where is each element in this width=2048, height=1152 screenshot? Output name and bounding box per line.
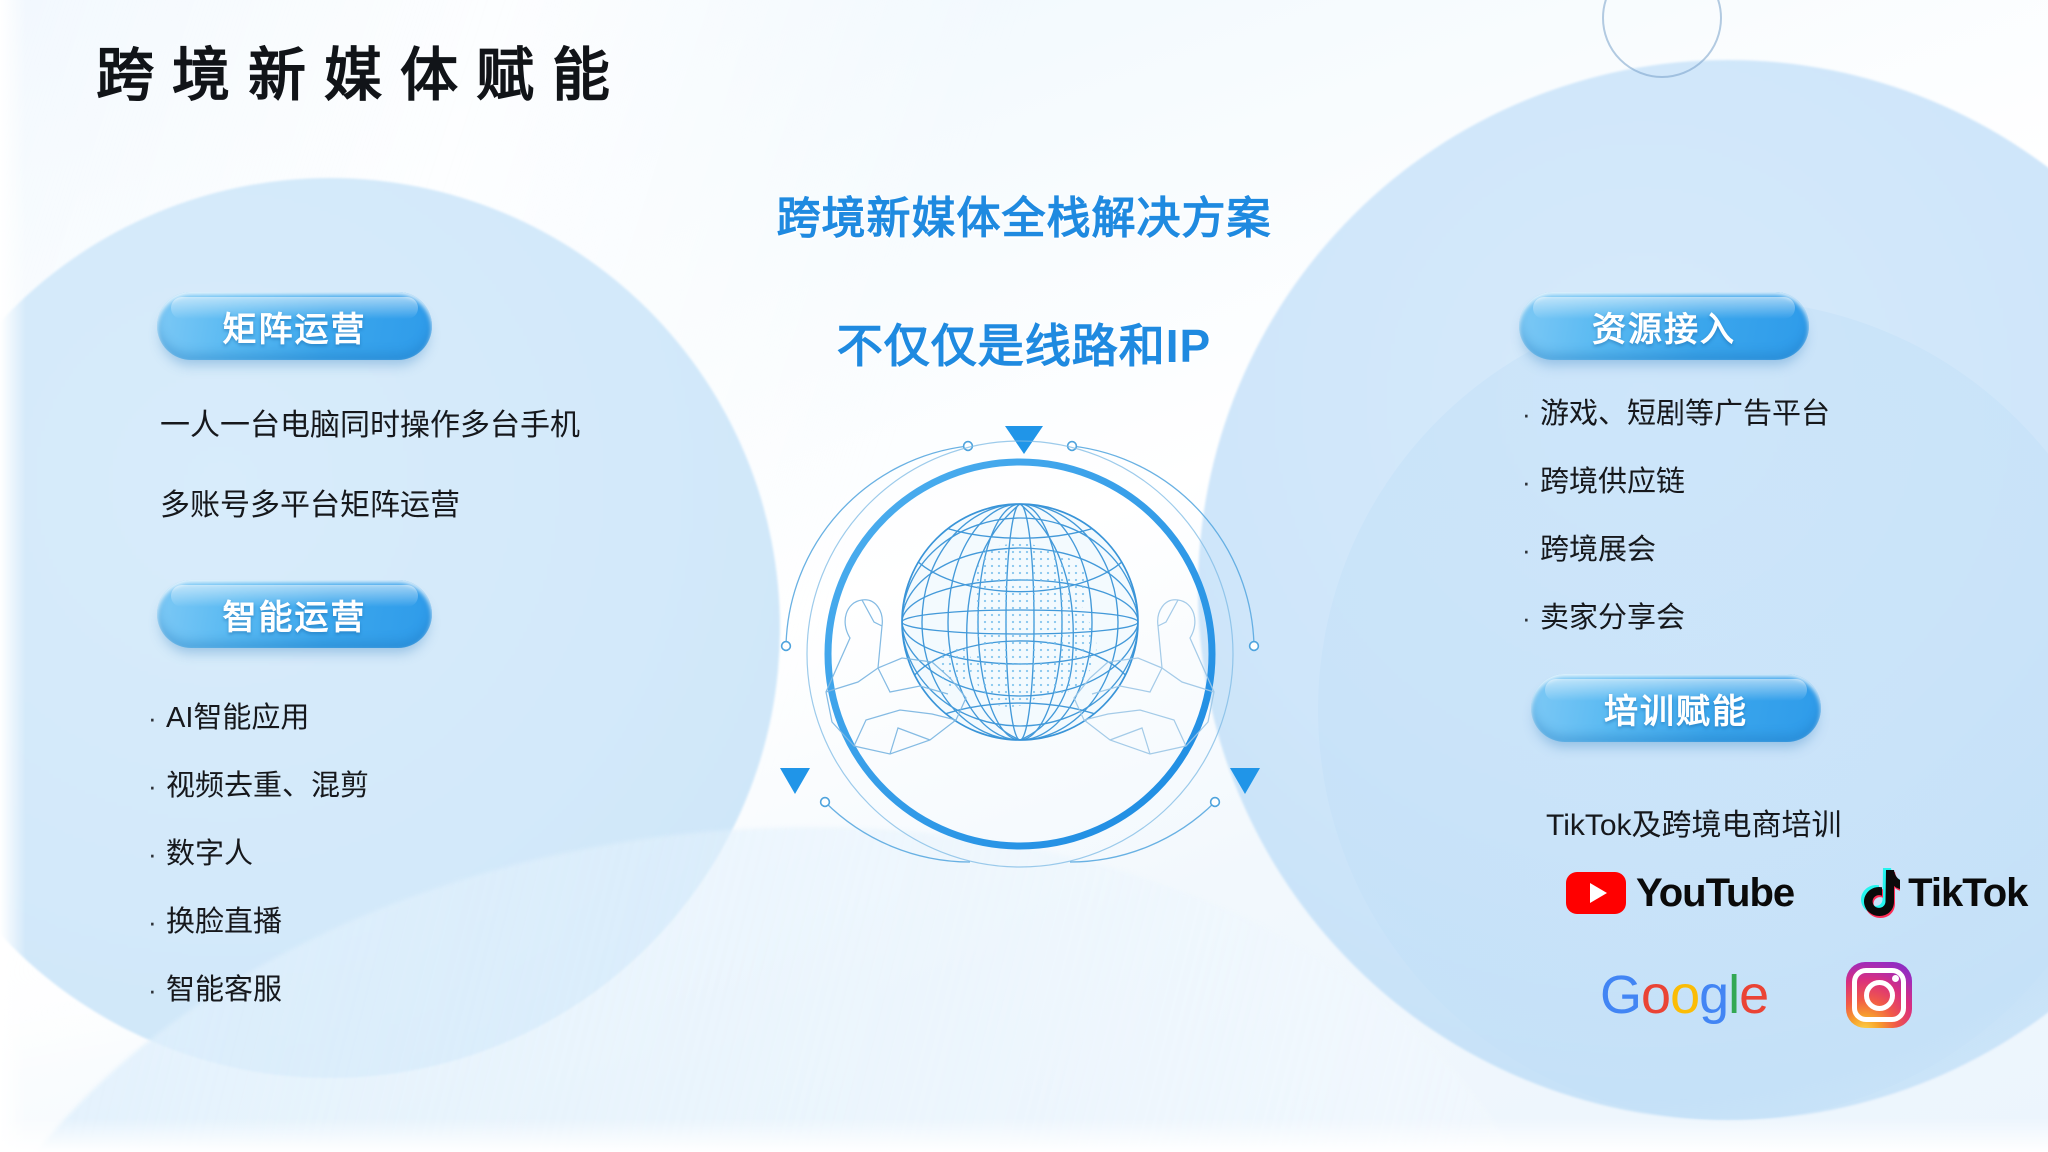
google-logo[interactable]: Google bbox=[1600, 968, 1768, 1022]
list-item: · 跨境供应链 bbox=[1522, 458, 1830, 500]
bullet-dot-icon: · bbox=[148, 771, 166, 802]
left-edge-fade bbox=[0, 0, 26, 1152]
google-letter-e: e bbox=[1739, 965, 1768, 1025]
pill-training-empowerment-label: 培训赋能 bbox=[1604, 684, 1748, 733]
bottom-edge-fade bbox=[0, 1118, 2048, 1152]
google-letter-l: l bbox=[1728, 965, 1739, 1025]
tiktok-note-icon bbox=[1856, 868, 1900, 918]
left-body-line-1: 一人一台电脑同时操作多台手机 bbox=[160, 400, 580, 444]
list-item: · 数字人 bbox=[148, 830, 369, 872]
youtube-logo[interactable]: YouTube bbox=[1566, 871, 1794, 916]
pill-smart-operations-label: 智能运营 bbox=[223, 590, 367, 639]
left-body-line-2: 多账号多平台矩阵运营 bbox=[160, 480, 460, 524]
bullet-dot-icon: · bbox=[148, 703, 166, 734]
training-note: TikTok及跨境电商培训 bbox=[1546, 800, 1842, 844]
bullet-dot-icon: · bbox=[1522, 399, 1540, 430]
pill-smart-operations[interactable]: 智能运营 bbox=[157, 580, 432, 648]
list-item-label: 跨境展会 bbox=[1540, 526, 1656, 568]
center-heading-primary: 跨境新媒体全栈解决方案 bbox=[0, 182, 2048, 246]
list-item: · 卖家分享会 bbox=[1522, 594, 1830, 636]
google-letter-g1: G bbox=[1600, 965, 1641, 1025]
pill-resource-access-label: 资源接入 bbox=[1592, 302, 1736, 351]
list-item: · AI智能应用 bbox=[148, 694, 369, 736]
list-item: · 跨境展会 bbox=[1522, 526, 1830, 568]
logo-row-bottom: Google bbox=[1600, 962, 1912, 1028]
list-item-label: 卖家分享会 bbox=[1540, 594, 1685, 636]
list-item-label: 跨境供应链 bbox=[1540, 458, 1685, 500]
youtube-play-icon bbox=[1566, 872, 1626, 914]
list-item: · 游戏、短剧等广告平台 bbox=[1522, 390, 1830, 432]
slide-canvas: 跨境新媒体赋能 跨境新媒体全栈解决方案 不仅仅是线路和IP bbox=[0, 0, 2048, 1152]
list-item-label: AI智能应用 bbox=[166, 694, 309, 736]
bullet-dot-icon: · bbox=[148, 907, 166, 938]
pill-resource-access[interactable]: 资源接入 bbox=[1519, 292, 1809, 360]
bullet-dot-icon: · bbox=[1522, 467, 1540, 498]
google-letter-o1: o bbox=[1641, 965, 1670, 1025]
google-letter-o2: o bbox=[1670, 965, 1699, 1025]
list-item-label: 视频去重、混剪 bbox=[166, 762, 369, 804]
bullet-dot-icon: · bbox=[1522, 603, 1540, 634]
list-item: · 换脸直播 bbox=[148, 898, 369, 940]
globe-in-hands-icon bbox=[780, 410, 1260, 890]
tiktok-logo[interactable]: TikTok bbox=[1856, 868, 2027, 918]
bullet-dot-icon: · bbox=[148, 975, 166, 1006]
list-item-label: 智能客服 bbox=[166, 966, 282, 1008]
pill-training-empowerment[interactable]: 培训赋能 bbox=[1531, 674, 1821, 742]
list-item-label: 数字人 bbox=[166, 830, 253, 872]
tiktok-wordmark: TikTok bbox=[1908, 871, 2027, 916]
right-bullet-list: · 游戏、短剧等广告平台 · 跨境供应链 · 跨境展会 · 卖家分享会 bbox=[1522, 390, 1830, 662]
pill-matrix-operations-label: 矩阵运营 bbox=[223, 302, 367, 351]
google-letter-g2: g bbox=[1699, 965, 1728, 1025]
left-bullet-list: · AI智能应用 · 视频去重、混剪 · 数字人 · 换脸直播 · 智能客服 bbox=[148, 694, 369, 1034]
list-item: · 视频去重、混剪 bbox=[148, 762, 369, 804]
list-item: · 智能客服 bbox=[148, 966, 369, 1008]
youtube-wordmark: YouTube bbox=[1636, 871, 1794, 916]
list-item-label: 游戏、短剧等广告平台 bbox=[1540, 390, 1830, 432]
list-item-label: 换脸直播 bbox=[166, 898, 282, 940]
pill-matrix-operations[interactable]: 矩阵运营 bbox=[157, 292, 432, 360]
bullet-dot-icon: · bbox=[148, 839, 166, 870]
logo-row-top: YouTube TikTok bbox=[1566, 868, 2027, 918]
page-title: 跨境新媒体赋能 bbox=[96, 44, 628, 108]
instagram-logo[interactable] bbox=[1846, 962, 1912, 1028]
bullet-dot-icon: · bbox=[1522, 535, 1540, 566]
